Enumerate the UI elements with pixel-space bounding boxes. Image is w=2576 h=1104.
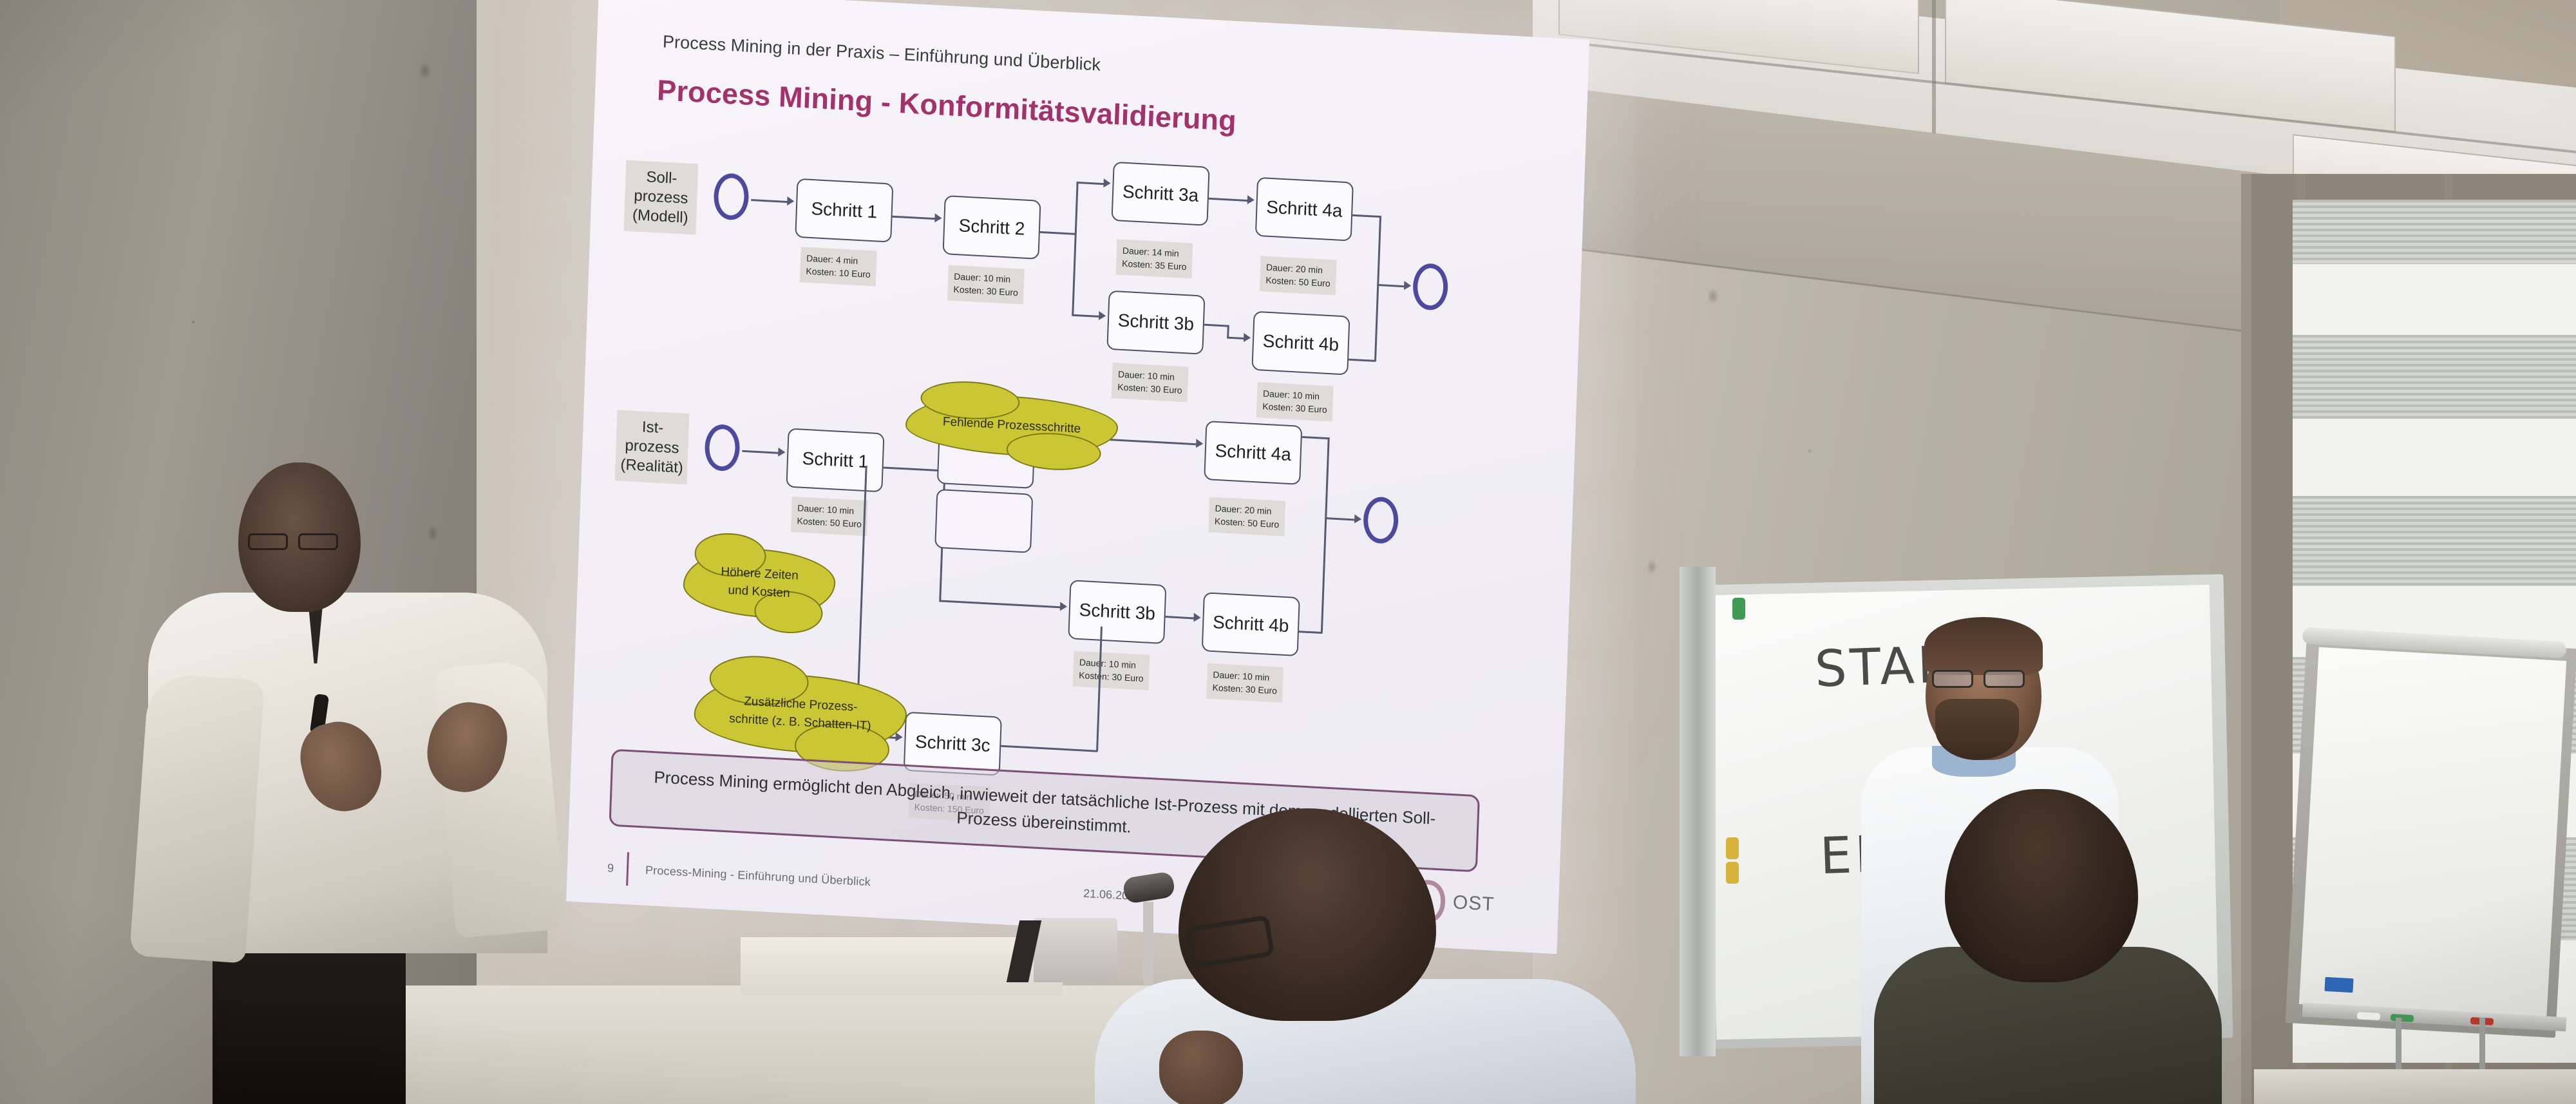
flipchart-marker-white [2357,1012,2381,1020]
node-soll-schritt-4a: Schritt 4a [1255,177,1354,242]
whiteboard-magnet [1726,837,1739,859]
cloud-fehlende-prozessschritte: Fehlende Prozessschritte [905,390,1119,461]
meta-soll-schritt-3b: Dauer: 10 minKosten: 30 Euro [1112,363,1189,402]
presentation-slide: Process Mining in der Praxis – Einführun… [566,0,1589,954]
ceiling-panel [1558,0,1919,74]
arrowhead [1404,281,1411,290]
whiteboard-rail [1680,567,1716,1056]
arrowhead [778,448,785,457]
edge-s4b-join [1347,359,1376,362]
exterior-window-blind [2293,496,2576,586]
meta-ist-schritt-1: Dauer: 10 minKosten: 50 Euro [791,497,868,536]
end-event-ist [1363,496,1399,544]
edge-split-to-s3b [1072,314,1100,318]
arrowhead [1354,514,1361,524]
edge-s3b-s4b [1204,324,1229,327]
process-flow-diagram: Soll- prozess (Modell) Schritt 1 Dauer: … [605,150,1546,798]
arrowhead [787,196,794,206]
footer-divider [626,852,629,886]
node-soll-schritt-1: Schritt 1 [795,178,893,243]
meta-ist-schritt-4a: Dauer: 20 minKosten: 50 Euro [1208,497,1285,536]
arrowhead [1247,195,1255,205]
edge-s4a-join [1352,214,1381,218]
presenter-arm-left [129,672,265,963]
meta-soll-schritt-4a: Dauer: 20 minKosten: 50 Euro [1260,256,1337,295]
node-ist-schritt-4b: Schritt 4b [1202,592,1300,656]
lectern [361,985,1198,1104]
webcam-stand [1143,902,1153,985]
edge-split-to-s3a [1077,182,1105,185]
edge-ist-4a-join [1302,436,1329,439]
exterior-building-band [2293,264,2576,335]
whiteboard-magnet [1732,598,1745,620]
slide-page-number: 9 [607,861,614,875]
standing-right-hair [1924,617,2043,675]
edge-s3a-s4a [1209,198,1249,202]
standing-right-beard [1935,699,2019,760]
projection-screen: Process Mining in der Praxis – Einführun… [566,0,1589,954]
arrowhead [895,732,902,742]
node-soll-schritt-3a: Schritt 3a [1112,162,1210,226]
confidence-monitor [1034,918,1117,982]
meta-soll-schritt-3a: Dauer: 14 minKosten: 35 Euro [1116,239,1193,278]
arrowhead [1193,613,1200,622]
arrowhead [1103,178,1110,188]
exterior-window-blind [2293,335,2576,419]
edge-s3b-s4b-2 [1227,337,1245,339]
edge-i1-split [884,466,945,471]
table-foreground-right [2254,1069,2576,1104]
edge-ist-4b-join [1299,631,1322,633]
lane-label-ist: Ist- prozess (Realität) [615,410,690,484]
meta-ist-schritt-4b: Dauer: 10 minKosten: 30 Euro [1206,663,1283,703]
presenter-glasses-icon [248,533,351,550]
edge-join-to-end [1377,284,1405,287]
meta-soll-schritt-4b: Dauer: 10 minKosten: 30 Euro [1256,382,1334,421]
edge-i3c-up-vertical [1096,627,1102,752]
edge-s1-s2 [893,216,936,220]
edge-ist-join-to-end [1325,517,1356,520]
start-event-ist [704,424,741,472]
node-ist-schritt-1: Schritt 1 [786,428,884,492]
ost-wordmark: OST [1452,891,1495,915]
edge-i3b-i4b [1166,616,1197,619]
edge-ist-to-3b [939,600,1061,608]
arrowhead [934,213,942,223]
meta-soll-schritt-1: Dauer: 4 minKosten: 10 Euro [800,247,877,286]
end-event-soll [1412,263,1449,311]
lecture-room-photo: Process Mining in der Praxis – Einführun… [0,0,2576,1104]
flipchart-paper [2299,647,2566,1018]
node-soll-schritt-3b: Schritt 3b [1106,290,1205,355]
exterior-building-band [2293,419,2576,496]
flipchart-logo [2324,977,2353,993]
start-event-soll [713,173,750,221]
edge-i3c-up [1001,745,1097,752]
node-ist-missing-3a-2 [934,489,1033,553]
node-ist-schritt-3b: Schritt 3b [1068,580,1166,644]
footer-deck-title: Process-Mining - Einführung und Überblic… [645,863,871,889]
meta-ist-schritt-3b: Dauer: 10 minKosten: 30 Euro [1073,651,1150,690]
whiteboard-magnet [1726,862,1739,884]
edge-s2-split [1040,231,1076,234]
meta-soll-schritt-2: Dauer: 10 minKosten: 30 Euro [947,265,1025,304]
arrowhead [1099,311,1106,321]
edge-start-s1 [751,199,788,203]
lane-label-soll: Soll- prozess (Modell) [623,160,698,235]
seated-front-hand [1159,1031,1243,1104]
standing-right-glasses-icon [1932,670,2035,688]
cloud-zusaetzliche-prozessschritte: Zusätzliche Prozess- schritte (z. B. Sch… [693,669,908,757]
node-soll-schritt-2: Schritt 2 [942,195,1041,260]
edge-ist-join-vertical [1321,437,1329,633]
arrowhead [1196,439,1203,448]
edge-join-vertical [1374,216,1381,361]
node-soll-schritt-4b: Schritt 4b [1251,311,1350,376]
node-ist-schritt-4a: Schritt 4a [1204,421,1302,485]
exterior-window-blind [2293,200,2576,264]
arrowhead [1244,333,1251,343]
edge-start-i1 [742,450,779,454]
cloud-hoehere-zeiten-und-kosten: Höhere Zeiten und Kosten [682,545,836,621]
ceiling-panel [1945,0,2396,133]
arrowhead [1060,602,1067,611]
edge-split-vertical [1072,182,1078,316]
